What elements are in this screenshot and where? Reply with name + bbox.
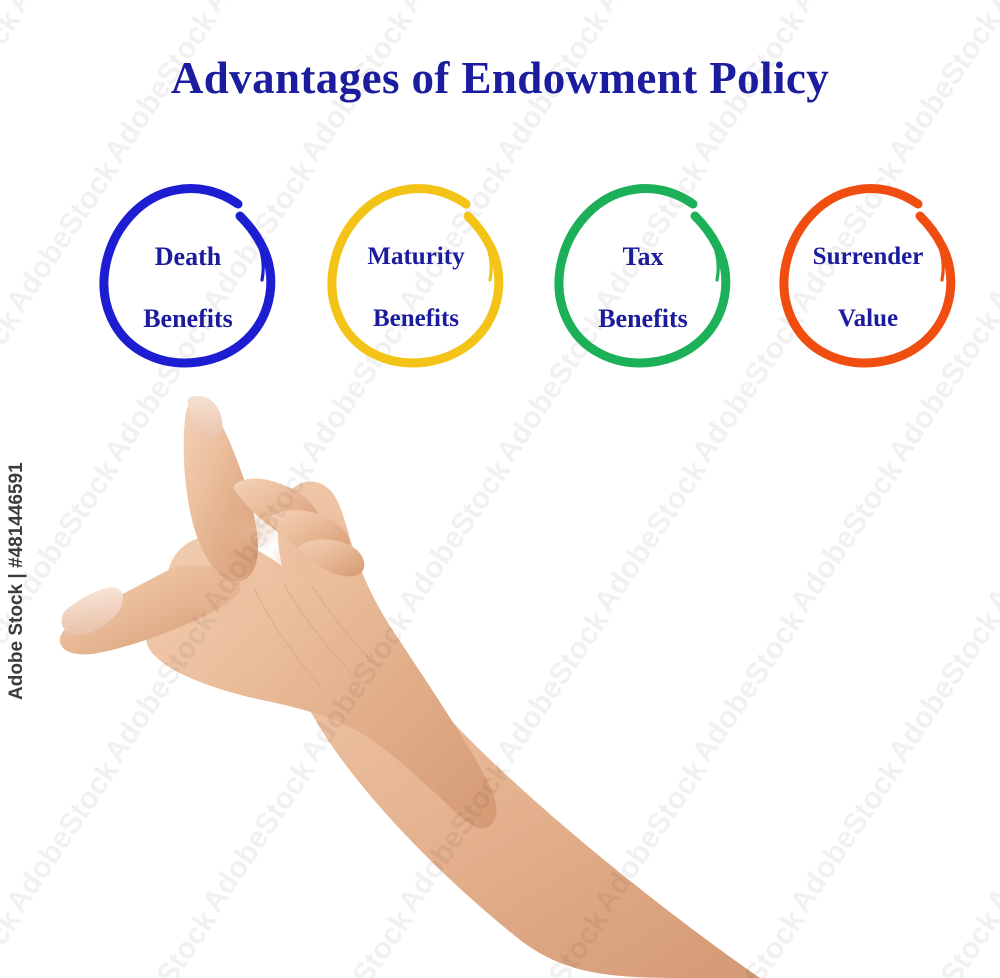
advantages-list: Death Benefits Maturity Benefits Tax (0, 170, 1000, 375)
brush-circle-icon (90, 174, 286, 370)
pointing-hand-photo (0, 0, 1000, 978)
stock-credit-label: Adobe Stock | #481446591 (6, 462, 28, 700)
brush-circle-icon (318, 174, 514, 370)
advantage-node-3[interactable]: Tax Benefits (545, 174, 741, 370)
brush-circle-icon (545, 174, 741, 370)
diagram-canvas: AdobeStockAdobeStockAdobeStockAdobeStock… (0, 0, 1000, 978)
advantage-node-2[interactable]: Maturity Benefits (318, 174, 514, 370)
brush-circle-icon (770, 174, 966, 370)
advantage-node-1[interactable]: Death Benefits (90, 174, 286, 370)
page-title: Advantages of Endowment Policy (0, 52, 1000, 104)
advantage-node-4[interactable]: Surrender Value (770, 174, 966, 370)
